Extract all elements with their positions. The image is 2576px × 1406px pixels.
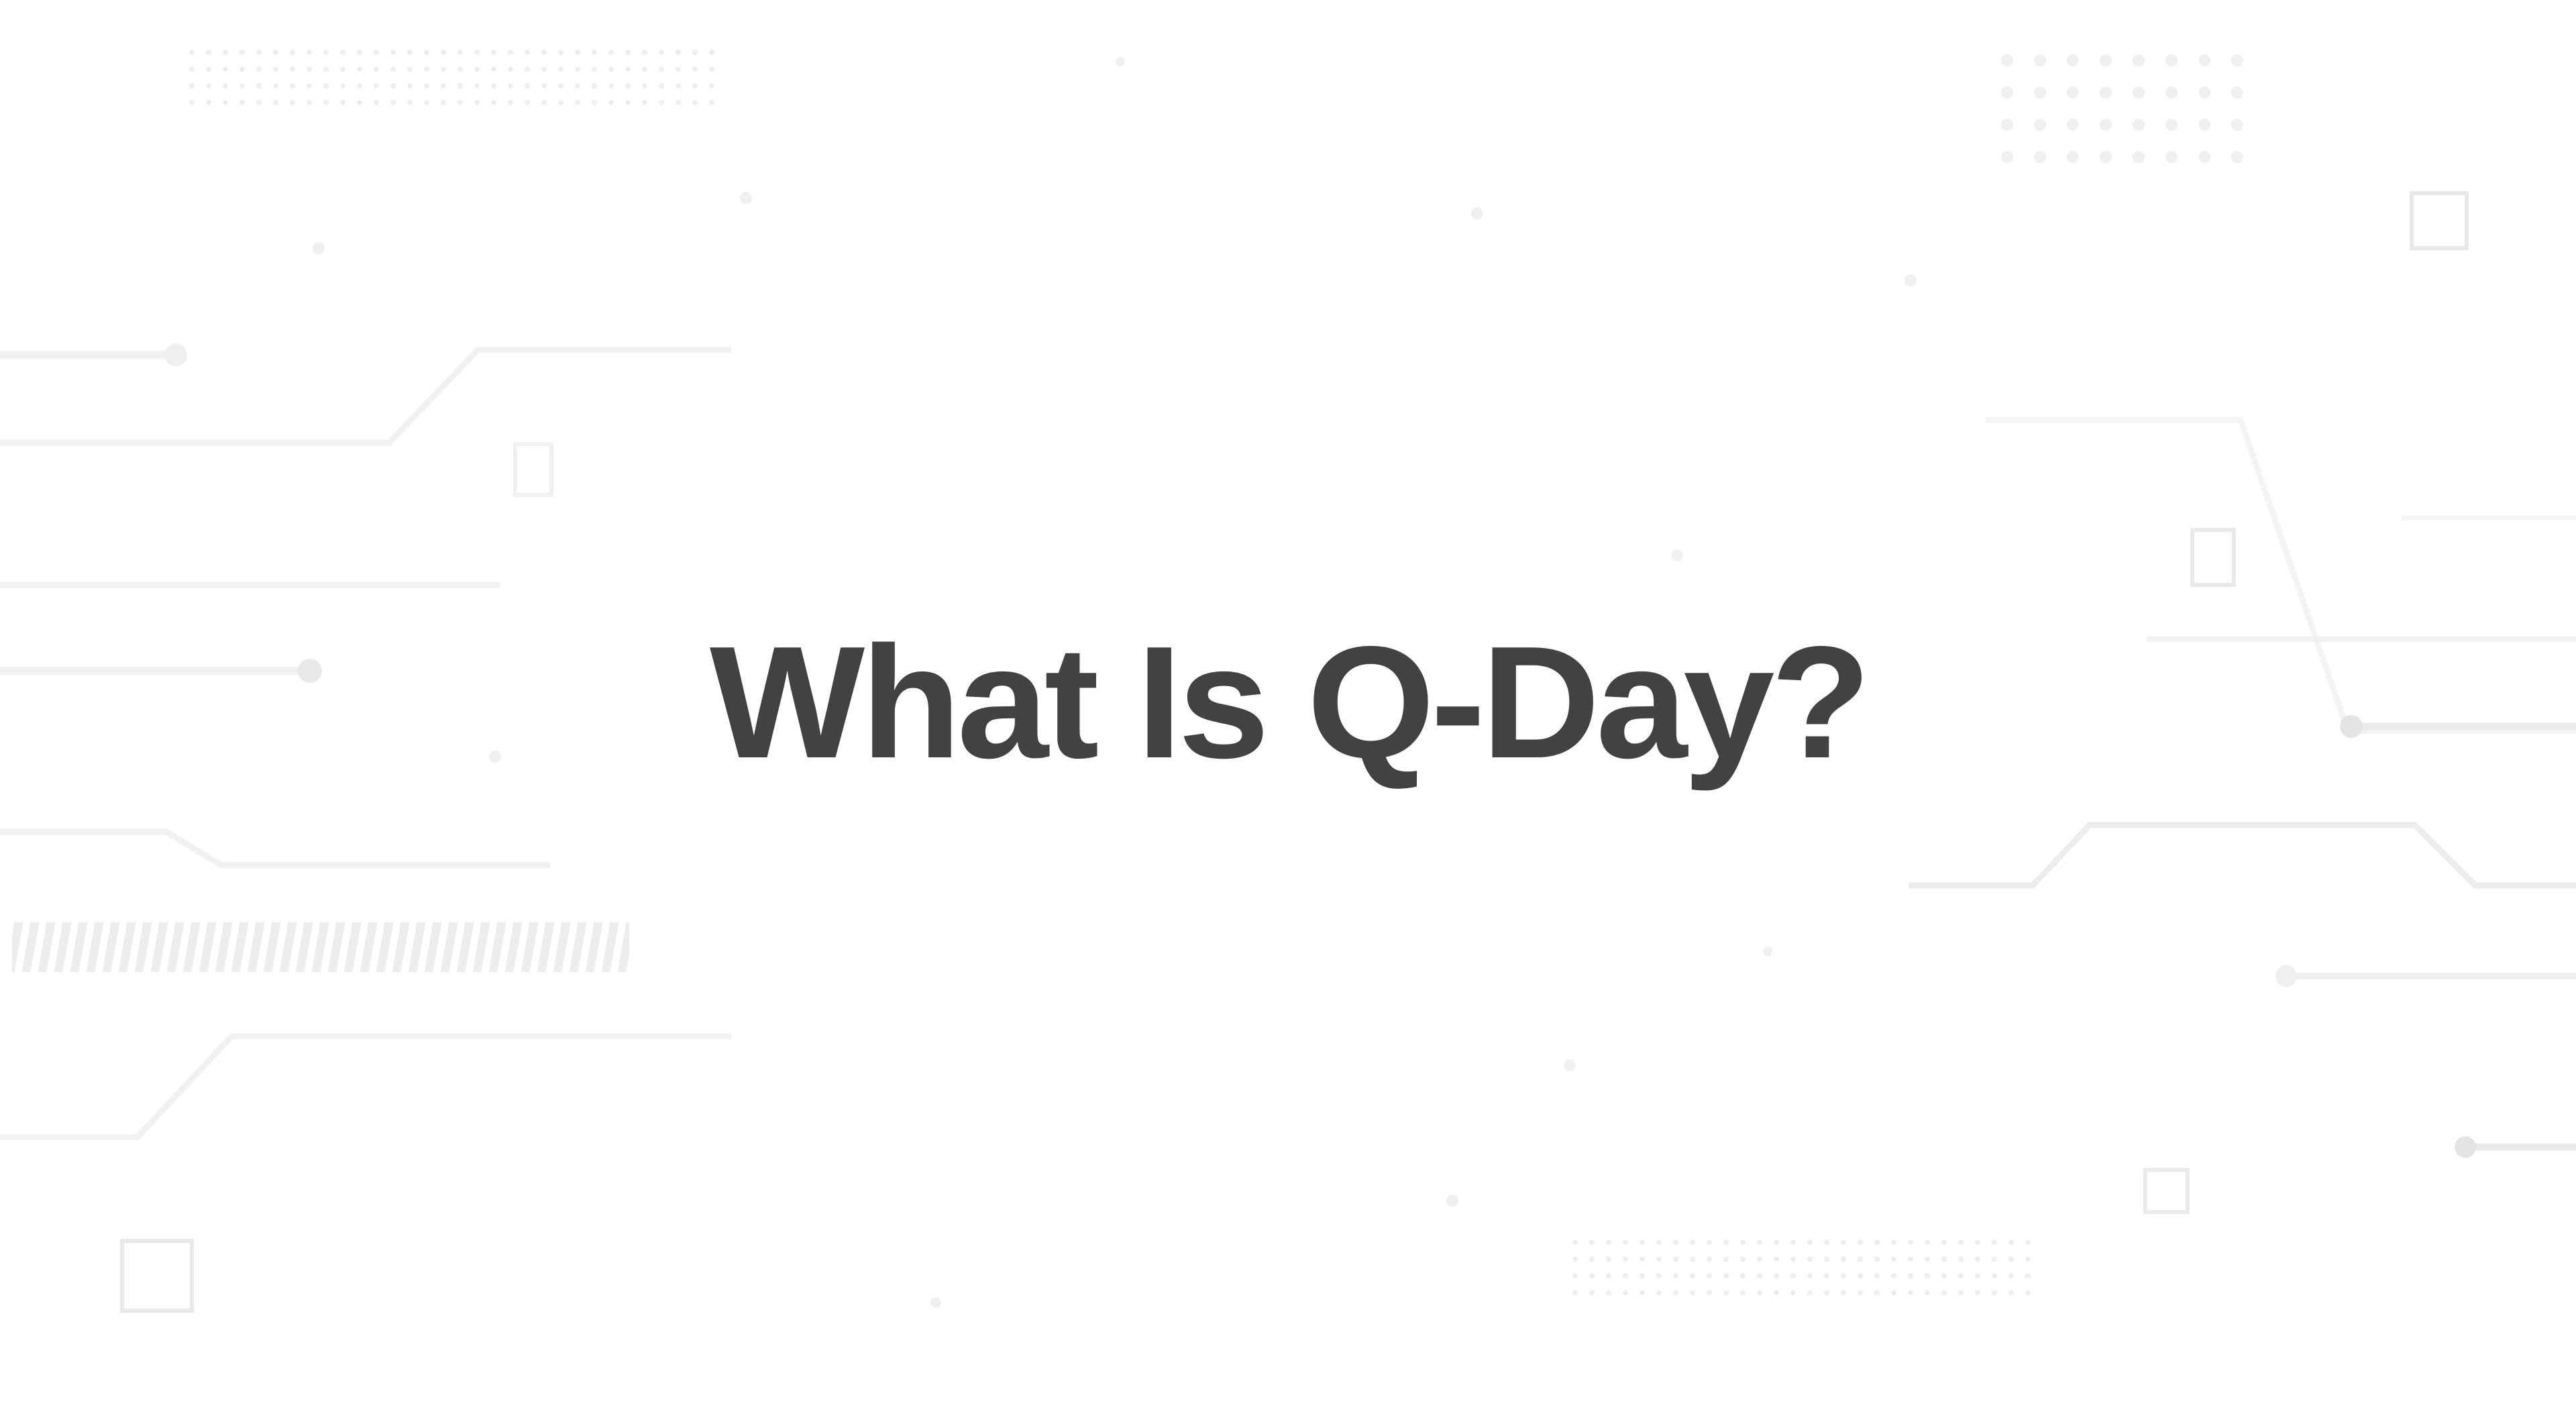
slide-canvas: What Is Q-Day? (0, 0, 2576, 1406)
page-title: What Is Q-Day? (710, 623, 1867, 783)
title-container: What Is Q-Day? (0, 0, 2576, 1406)
